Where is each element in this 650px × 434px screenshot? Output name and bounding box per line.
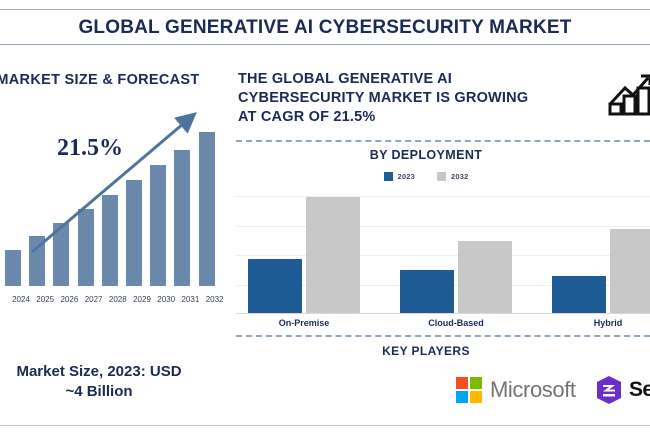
legend-item: 2032 bbox=[437, 172, 469, 181]
deployment-category-label: Hybrid bbox=[548, 318, 650, 328]
headline-line-3: AT CAGR OF 21.5% bbox=[238, 108, 584, 127]
chart-gridline bbox=[236, 196, 650, 197]
deployment-category-axis: On-PremiseCloud-BasedHybrid bbox=[236, 318, 650, 332]
header-rule-bottom bbox=[0, 44, 650, 45]
deployment-bar bbox=[400, 270, 454, 313]
deployment-chart bbox=[236, 186, 650, 314]
bar-chart-growth-icon bbox=[605, 70, 650, 118]
sentinelone-logo: SentinelOne bbox=[596, 370, 650, 410]
market-size-footnote: Market Size, 2023: USD ~4 Billion bbox=[0, 362, 224, 402]
top-strip bbox=[0, 0, 650, 8]
microsoft-logo: Microsoft bbox=[456, 370, 576, 410]
sentinelone-mark-icon bbox=[596, 376, 622, 404]
infographic-page: GLOBAL GENERATIVE AI CYBERSECURITY MARKE… bbox=[0, 0, 650, 434]
market-size-chart: 202420252026202720282029203020312032 bbox=[0, 104, 228, 334]
chart-gridline bbox=[236, 255, 650, 256]
deployment-category-label: On-Premise bbox=[244, 318, 364, 328]
sentinelone-wordmark: SentinelOne bbox=[629, 378, 650, 402]
chart-gridline bbox=[236, 226, 650, 227]
headline-line-2: CYBERSECURITY MARKET IS GROWING bbox=[238, 89, 584, 108]
deployment-bar bbox=[248, 259, 302, 313]
deployment-section-title: BY DEPLOYMENT bbox=[236, 148, 616, 162]
key-players-title: KEY PLAYERS bbox=[236, 344, 616, 358]
page-title: GLOBAL GENERATIVE AI CYBERSECURITY MARKE… bbox=[0, 13, 650, 43]
forecast-year-axis: 202420252026202720282029203020312032 bbox=[0, 290, 228, 304]
divider-headline bbox=[236, 140, 650, 142]
deployment-category-label: Cloud-Based bbox=[396, 318, 516, 328]
footer-rule bbox=[0, 425, 650, 426]
deployment-legend: 20232032 bbox=[236, 170, 616, 182]
market-size-footnote-line1: Market Size, 2023: USD bbox=[0, 362, 224, 382]
chart-baseline bbox=[236, 313, 650, 314]
headline: THE GLOBAL GENERATIVE AI CYBERSECURITY M… bbox=[238, 70, 584, 127]
legend-swatch bbox=[384, 172, 393, 181]
market-size-footnote-line2: ~4 Billion bbox=[0, 382, 224, 402]
legend-label: 2023 bbox=[398, 172, 416, 181]
market-size-panel: MARKET SIZE & FORECAST 21.5% 20242025202… bbox=[0, 52, 228, 434]
deployment-bar bbox=[610, 229, 650, 313]
key-players-logos: Microsoft SentinelOne F bbox=[222, 370, 650, 414]
legend-label: 2032 bbox=[451, 172, 469, 181]
header-rule-top bbox=[0, 9, 650, 10]
deployment-bar bbox=[306, 197, 360, 313]
divider-key-players bbox=[236, 335, 650, 337]
forecast-year-label: 2032 bbox=[200, 295, 230, 304]
legend-item: 2023 bbox=[384, 172, 416, 181]
market-detail-panel: THE GLOBAL GENERATIVE AI CYBERSECURITY M… bbox=[236, 52, 650, 434]
microsoft-squares-icon bbox=[456, 377, 482, 403]
deployment-bar bbox=[458, 241, 512, 313]
market-size-section-title: MARKET SIZE & FORECAST bbox=[0, 72, 214, 88]
deployment-bar bbox=[552, 276, 606, 313]
microsoft-wordmark: Microsoft bbox=[490, 377, 576, 403]
headline-line-1: THE GLOBAL GENERATIVE AI bbox=[238, 70, 584, 89]
legend-swatch bbox=[437, 172, 446, 181]
